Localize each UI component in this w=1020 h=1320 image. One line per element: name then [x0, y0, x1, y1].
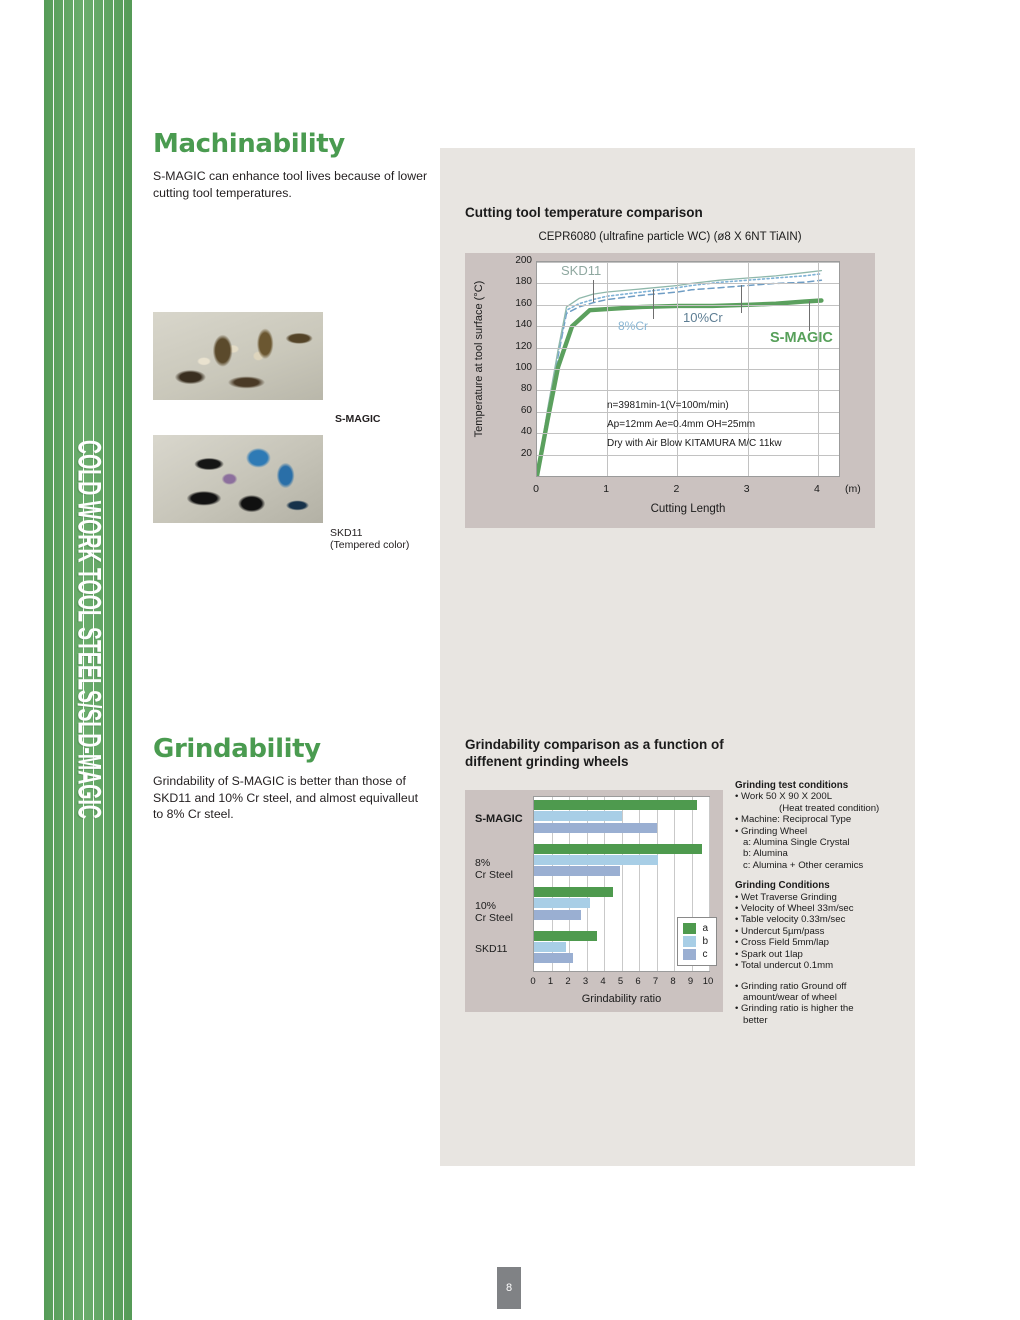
line-chart-x-unit: (m): [845, 483, 861, 495]
bar-a-8-: [534, 844, 702, 854]
line-chart-y-axis-label: Temperature at tool surface (°C): [473, 259, 485, 459]
condition-item: • Total undercut 0.1mm: [735, 960, 915, 971]
bar-chart-x-tick: 6: [629, 976, 647, 987]
bar-c-8-: [534, 866, 620, 876]
condition-item: • Velocity of Wheel 33m/sec: [735, 903, 915, 914]
bar-chart-category-label: SKD11: [475, 944, 508, 956]
machinability-heading: Machinability: [153, 129, 428, 159]
machinability-body: S-MAGIC can enhance tool lives because o…: [153, 168, 428, 201]
line-chart-y-tick: 20: [504, 448, 532, 459]
leader-line-10cr: [741, 285, 742, 313]
line-chart-y-tick: 80: [504, 383, 532, 394]
grindability-heading: Grindability: [153, 734, 428, 764]
line-chart-label-skd11: SKD11: [561, 263, 601, 278]
bar-chart-x-tick: 5: [612, 976, 630, 987]
grindability-chart-title-line1: Grindability comparison as a function of: [465, 736, 724, 753]
bar-chart-category-label: 8%: [475, 858, 490, 870]
bar-b-10-: [534, 898, 590, 908]
leader-line-smagic: [809, 301, 810, 331]
condition-item: • Work 50 X 90 X 200L: [735, 791, 915, 802]
line-chart-x-tick: 3: [732, 483, 762, 495]
legend-swatch-a: [683, 923, 696, 934]
condition-item: • Spark out 1lap: [735, 949, 915, 960]
photo-smagic-image: [153, 312, 323, 400]
line-chart-annotation-2: Ap=12mm Ae=0.4mm OH=25mm: [607, 419, 755, 430]
photo-smagic-caption: S-MAGIC: [335, 413, 381, 425]
bar-chart-category-label: Cr Steel: [475, 870, 513, 882]
condition-item: • Cross Field 5mm/lap: [735, 937, 915, 948]
grinding-conditions-heading: Grinding Conditions: [735, 880, 915, 891]
bar-chart-legend-row: c: [683, 948, 708, 961]
bar-chart-x-tick: 9: [682, 976, 700, 987]
line-chart-label-10cr: 10%Cr: [683, 310, 723, 325]
line-chart-gridline-h: [537, 433, 839, 434]
condition-item: • Undercut 5µm/pass: [735, 926, 915, 937]
sidebar-vertical-title: COLD WORK TOOL STEELS/SLD-MAGIC: [76, 440, 100, 910]
line-chart-gridline-v: [818, 262, 819, 476]
grinding-test-conditions-heading: Grinding test conditions: [735, 780, 915, 791]
bar-c-10-: [534, 910, 581, 920]
line-chart-gridline-h: [537, 412, 839, 413]
condition-item: • Wet Traverse Grinding: [735, 892, 915, 903]
condition-item: • Grinding ratio Ground off: [735, 981, 915, 992]
machinability-chart-title: Cutting tool temperature comparison: [465, 204, 703, 221]
grindability-chart-title-line2: diffenent grinding wheels: [465, 753, 629, 770]
line-chart-x-tick: 1: [591, 483, 621, 495]
line-chart-y-tick: 160: [504, 298, 532, 309]
bar-chart-x-tick: 2: [559, 976, 577, 987]
line-chart-y-tick: 120: [504, 341, 532, 352]
conditions-spacer-1: [735, 871, 915, 880]
legend-label-a: a: [702, 923, 708, 934]
line-chart-y-tick: 60: [504, 405, 532, 416]
bar-b-8-: [534, 855, 658, 865]
condition-item: • Grinding Wheel: [735, 826, 915, 837]
line-chart-y-tick: 140: [504, 319, 532, 330]
condition-item: c: Alumina + Other ceramics: [735, 860, 915, 871]
condition-item: b: Alumina: [735, 848, 915, 859]
conditions-spacer-2: [735, 972, 915, 981]
page-number: 8: [506, 1282, 512, 1294]
grindability-body: Grindability of S-MAGIC is better than t…: [153, 773, 428, 823]
line-chart-gridline-h: [537, 390, 839, 391]
bar-chart-category-label: Cr Steel: [475, 913, 513, 925]
line-chart-gridline-h: [537, 455, 839, 456]
cutting-temperature-line-chart: Temperature at tool surface (°C) 2040608…: [465, 253, 875, 528]
photo-skd11-caption-line2: (Tempered color): [330, 539, 409, 551]
bar-chart-gridline: [674, 797, 675, 971]
legend-swatch-c: [683, 949, 696, 960]
line-chart-gridline-h: [537, 283, 839, 284]
legend-label-b: b: [702, 936, 708, 947]
line-chart-x-axis-label: Cutting Length: [536, 503, 840, 515]
bar-chart-legend: abc: [677, 917, 717, 966]
condition-item: a: Alumina Single Crystal: [735, 837, 915, 848]
photo-skd11-image: [153, 435, 323, 523]
bar-chart-legend-row: b: [683, 935, 708, 948]
bar-chart-x-tick: 10: [699, 976, 717, 987]
line-chart-gridline-h: [537, 305, 839, 306]
condition-item: (Heat treated condition): [735, 803, 915, 814]
bar-b-s-magic: [534, 811, 622, 821]
grinding-test-conditions-items: • Work 50 X 90 X 200L(Heat treated condi…: [735, 791, 915, 871]
sidebar-vertical-title-text: COLD WORK TOOL STEELS/SLD-MAGIC: [69, 440, 106, 819]
bar-chart-x-tick: 0: [524, 976, 542, 987]
bar-b-skd11: [534, 942, 566, 952]
grinding-conditions-items: • Wet Traverse Grinding• Velocity of Whe…: [735, 892, 915, 972]
grindability-bar-chart: S-MAGIC8%Cr Steel10%Cr SteelSKD11 012345…: [465, 790, 723, 1012]
condition-item: • Machine: Reciprocal Type: [735, 814, 915, 825]
photo-skd11-chips: [153, 435, 323, 523]
bar-chart-legend-row: a: [683, 922, 708, 935]
bar-chart-category-label: 10%: [475, 901, 496, 913]
legend-swatch-b: [683, 936, 696, 947]
grindability-text-block: Grindability Grindability of S-MAGIC is …: [153, 734, 428, 823]
leader-line-8cr: [653, 289, 654, 319]
line-chart-x-tick: 0: [521, 483, 551, 495]
line-chart-x-tick: 2: [661, 483, 691, 495]
line-chart-x-tick: 4: [802, 483, 832, 495]
line-chart-label-smagic: S-MAGIC: [770, 330, 833, 346]
bar-chart-gridline: [657, 797, 658, 971]
bar-chart-category-labels: S-MAGIC8%Cr Steel10%Cr SteelSKD11: [471, 796, 531, 972]
photo-skd11-caption-line1: SKD11: [330, 527, 363, 539]
line-chart-subtitle: CEPR6080 (ultrafine particle WC) (ø8 X 6…: [465, 231, 875, 243]
line-chart-y-tick: 200: [504, 255, 532, 266]
grinding-conditions-block: Grinding test conditions • Work 50 X 90 …: [735, 780, 915, 1026]
line-chart-label-8cr: 8%Cr: [618, 319, 648, 333]
bar-chart-x-tick: 3: [577, 976, 595, 987]
condition-item: • Table velocity 0.33m/sec: [735, 914, 915, 925]
condition-item: better: [735, 1015, 915, 1026]
machinability-text-block: Machinability S-MAGIC can enhance tool l…: [153, 129, 428, 201]
bar-chart-x-tick: 4: [594, 976, 612, 987]
bar-a-skd11: [534, 931, 597, 941]
bar-c-skd11: [534, 953, 573, 963]
legend-label-c: c: [702, 949, 707, 960]
bar-chart-category-label: S-MAGIC: [475, 814, 523, 826]
condition-item: • Grinding ratio is higher the: [735, 1003, 915, 1014]
leader-line-skd11: [593, 280, 594, 302]
photo-smagic-chips: [153, 312, 323, 400]
condition-item: amount/wear of wheel: [735, 992, 915, 1003]
line-chart-gridline-h: [537, 348, 839, 349]
bar-chart-x-tick: 7: [647, 976, 665, 987]
bar-a-s-magic: [534, 800, 697, 810]
page-number-badge: 8: [497, 1267, 521, 1309]
line-chart-y-tick: 180: [504, 276, 532, 287]
grinding-conditions-notes: • Grinding ratio Ground offamount/wear o…: [735, 981, 915, 1027]
bar-chart-x-tick: 1: [542, 976, 560, 987]
bar-c-s-magic: [534, 823, 657, 833]
line-chart-y-tick: 100: [504, 362, 532, 373]
bar-a-10-: [534, 887, 613, 897]
line-chart-gridline-h: [537, 369, 839, 370]
line-chart-gridline-h: [537, 326, 839, 327]
line-chart-y-tick: 40: [504, 426, 532, 437]
bar-chart-x-tick: 8: [664, 976, 682, 987]
line-chart-annotation-1: n=3981min-1(V=100m/min): [607, 400, 729, 411]
bar-chart-x-axis-label: Grindability ratio: [533, 993, 710, 1005]
line-chart-annotation-3: Dry with Air Blow KITAMURA M/C 11kw: [607, 438, 782, 449]
